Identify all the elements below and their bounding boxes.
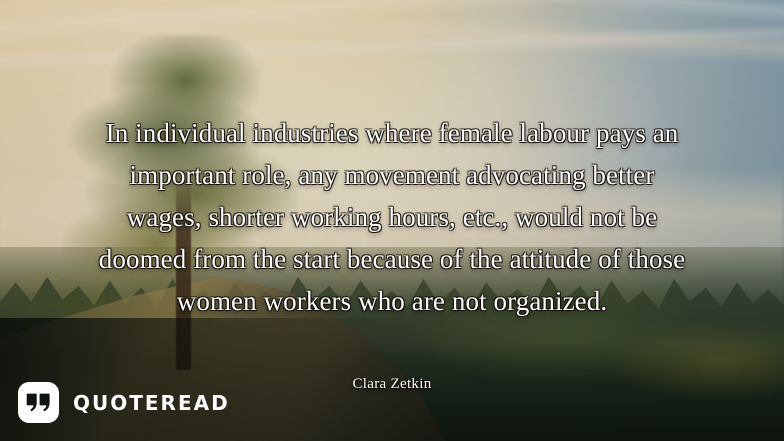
quote-line: important role, any movement advocating … (22, 154, 762, 196)
brand-logo[interactable]: QUOTEREAD (18, 382, 230, 423)
quote-line: women workers who are not organized. (22, 280, 762, 322)
quote-line: In individual industries where female la… (22, 112, 762, 154)
brand-name: QUOTEREAD (73, 391, 230, 415)
quote-line: doomed from the start because of the att… (22, 238, 762, 280)
quotation-mark-icon (18, 382, 59, 423)
quote-text: In individual industries where female la… (0, 112, 784, 322)
quote-image-card: In individual industries where female la… (0, 0, 784, 441)
quote-line: wages, shorter working hours, etc., woul… (22, 196, 762, 238)
